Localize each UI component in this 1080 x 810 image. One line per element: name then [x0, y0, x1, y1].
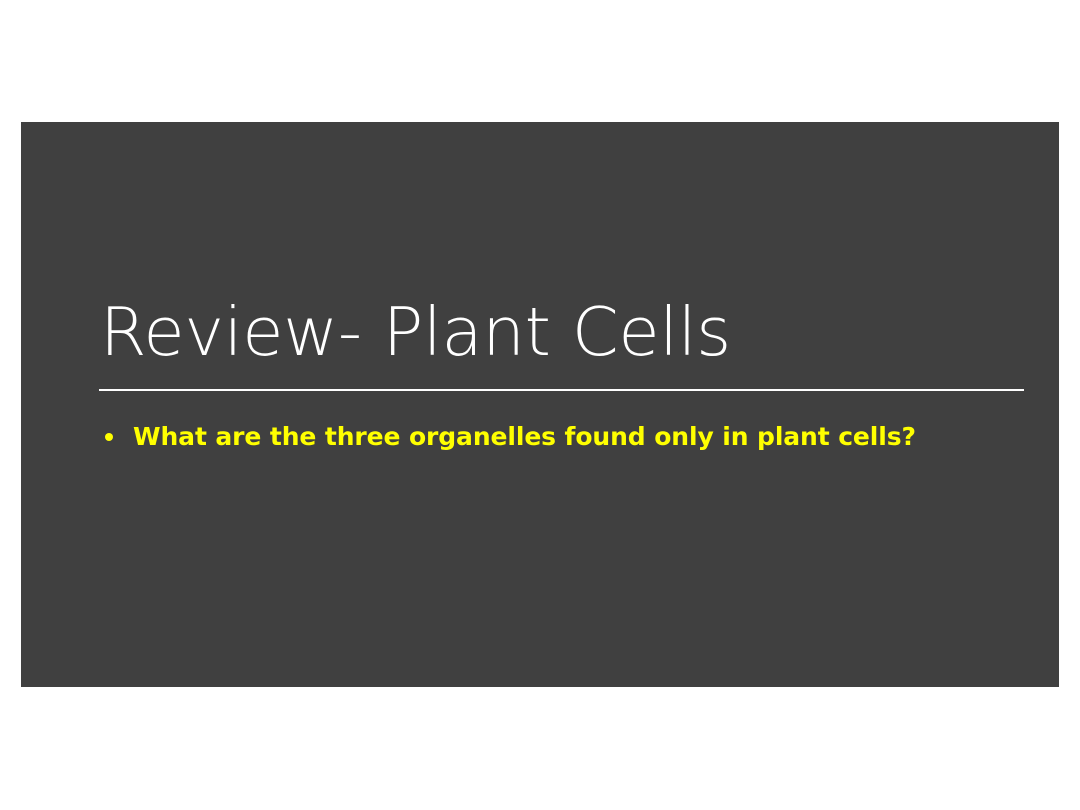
title-divider: [99, 389, 1024, 391]
bullet-dot-icon: [105, 433, 113, 441]
presentation-slide[interactable]: Review- Plant Cells What are the three o…: [21, 122, 1059, 687]
slide-body-empty-area: [99, 472, 1024, 687]
slide-canvas: Review- Plant Cells What are the three o…: [0, 0, 1080, 810]
slide-body-list: What are the three organelles found only…: [99, 422, 1029, 458]
list-item-label: What are the three organelles found only…: [133, 422, 1029, 452]
list-item: What are the three organelles found only…: [99, 422, 1029, 452]
page-title: Review- Plant Cells: [100, 292, 1030, 372]
